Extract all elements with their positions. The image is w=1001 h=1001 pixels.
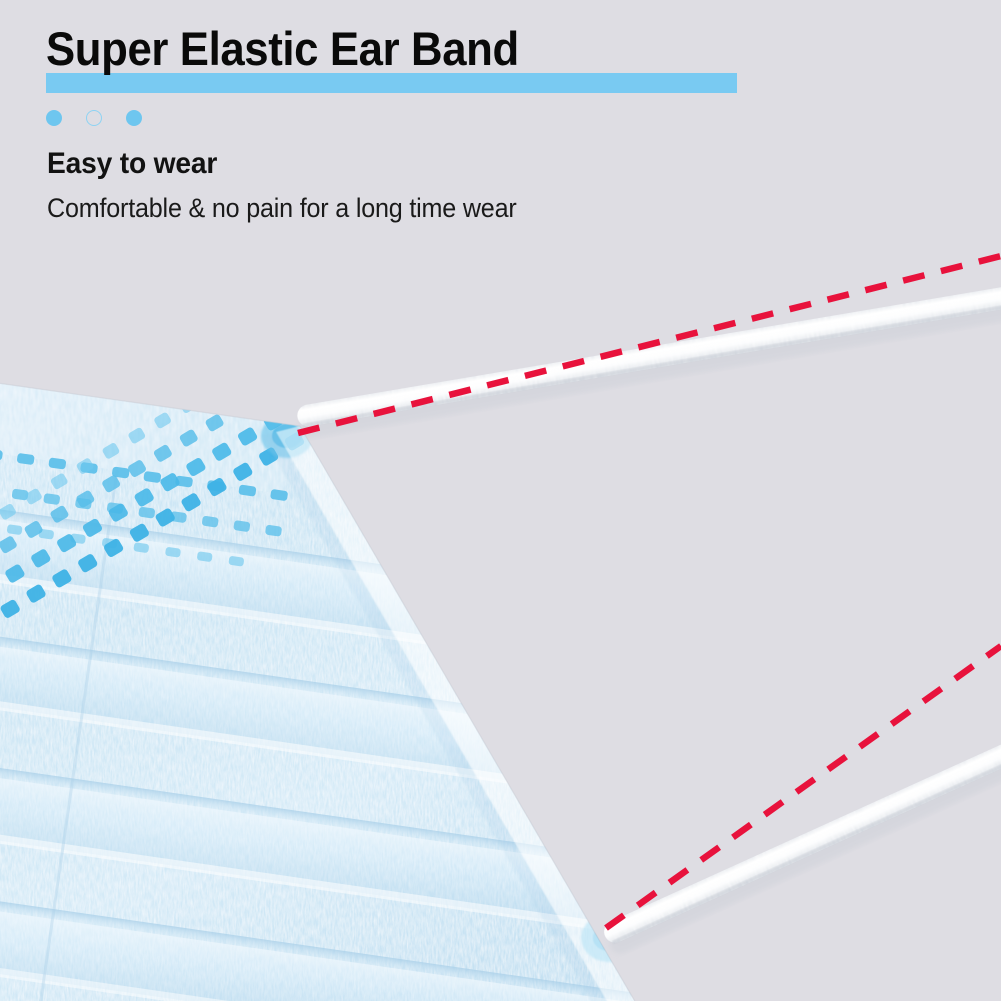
subheading: Easy to wear	[47, 147, 217, 181]
dot-hollow-2[interactable]	[86, 110, 102, 126]
dot-filled-1[interactable]	[46, 110, 62, 126]
title-block: Super Elastic Ear Band	[46, 24, 554, 104]
page-title: Super Elastic Ear Band	[46, 24, 519, 74]
title-highlight-bar	[46, 73, 737, 93]
product-feature-card: Super Elastic Ear Band Easy to wear Comf…	[0, 0, 1001, 1001]
feature-header: Super Elastic Ear Band Easy to wear Comf…	[0, 0, 1001, 250]
dot-indicator-group	[46, 110, 246, 130]
sub-description: Comfortable & no pain for a long time we…	[47, 193, 517, 224]
dot-filled-3[interactable]	[126, 110, 142, 126]
